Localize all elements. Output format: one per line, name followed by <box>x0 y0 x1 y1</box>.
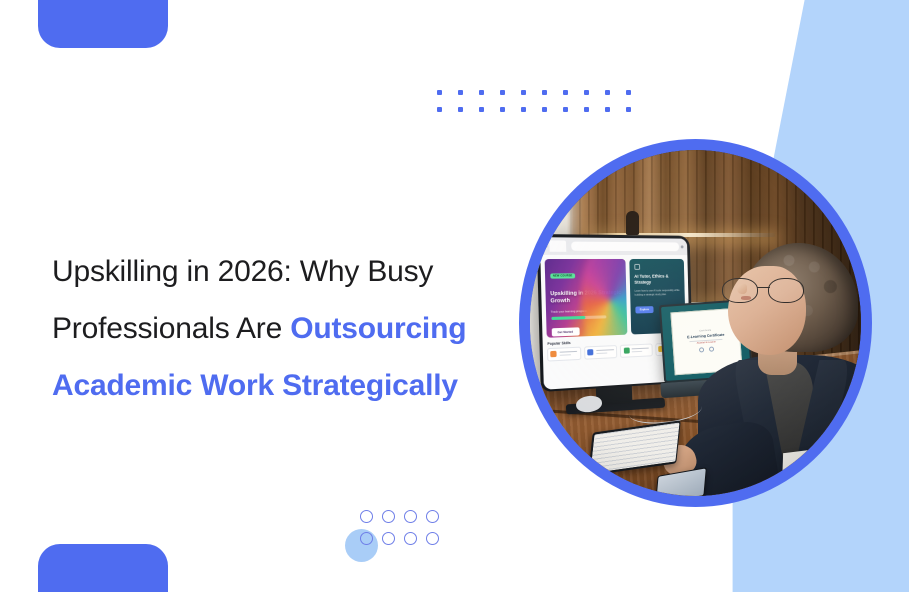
skill-lines <box>632 347 649 352</box>
lens-left <box>722 278 758 303</box>
circle-dot <box>382 532 395 545</box>
lens-right <box>768 278 804 303</box>
dot <box>458 107 463 112</box>
hero-photo-ring: NEW COURSE Upskilling in 2026 Strategic … <box>519 139 872 507</box>
browser-tab <box>549 240 566 251</box>
headline-line-3: Academic Work Strategically <box>52 357 522 414</box>
eyeglasses <box>722 278 804 303</box>
dot <box>542 90 547 95</box>
skill-card <box>546 346 581 361</box>
circle-dot <box>382 510 395 523</box>
get-started-button: Get Started <box>551 327 579 336</box>
browser-dot <box>681 245 684 248</box>
new-course-badge: NEW COURSE <box>550 273 576 278</box>
shelf-object <box>626 211 639 235</box>
skill-icon <box>624 347 630 353</box>
accent-pill-top <box>38 0 168 48</box>
skill-icon <box>550 351 556 357</box>
dot <box>479 90 484 95</box>
dot <box>458 90 463 95</box>
square-dot-grid-decoration <box>437 90 647 124</box>
office-scene: NEW COURSE Upskilling in 2026 Strategic … <box>530 150 861 496</box>
dot <box>521 90 526 95</box>
skill-lines <box>559 351 577 356</box>
dot <box>500 107 505 112</box>
dot <box>479 107 484 112</box>
circle-dot <box>404 510 417 523</box>
dot <box>626 90 631 95</box>
progress-bar-fill <box>551 316 586 320</box>
blog-hero-banner: Upskilling in 2026: Why Busy Professiona… <box>0 0 909 592</box>
circle-dot <box>426 532 439 545</box>
headline: Upskilling in 2026: Why Busy Professiona… <box>52 243 522 414</box>
circle-dot <box>426 510 439 523</box>
accent-pill-bottom <box>38 544 168 592</box>
dot <box>584 90 589 95</box>
dot <box>542 107 547 112</box>
skill-card <box>584 344 618 359</box>
dot <box>605 90 610 95</box>
hero-photo: NEW COURSE Upskilling in 2026 Strategic … <box>530 150 861 496</box>
circle-dot <box>360 510 373 523</box>
dot <box>605 107 610 112</box>
browser-url-bar <box>571 241 679 251</box>
dot <box>563 90 568 95</box>
dot <box>437 107 442 112</box>
circle-dot <box>360 532 373 545</box>
ai-card-title: AI Tutor, Ethics & Strategy <box>634 273 680 285</box>
ai-card-body: Learn how to use AI tools responsibly wh… <box>635 289 681 298</box>
dot <box>500 90 505 95</box>
card-icon <box>634 264 640 270</box>
dot <box>563 107 568 112</box>
course-hero-card: NEW COURSE Upskilling in 2026 Strategic … <box>544 259 627 337</box>
dot <box>521 107 526 112</box>
skill-card <box>620 343 652 357</box>
dot <box>437 90 442 95</box>
skill-lines <box>596 349 614 354</box>
explore-button: Explore <box>635 306 654 313</box>
paper-lines <box>792 453 860 487</box>
dot <box>584 107 589 112</box>
headline-line-1: Upskilling in 2026: Why Busy <box>52 243 522 300</box>
headline-line-2-accent: Outsourcing <box>290 312 466 345</box>
circle-dot-grid-decoration <box>360 510 448 554</box>
headline-line-2-plain: Professionals Are <box>52 312 290 345</box>
circle-dot <box>404 532 417 545</box>
dot <box>626 107 631 112</box>
browser-dot <box>544 244 547 247</box>
skill-icon <box>587 349 593 355</box>
browser-chrome <box>539 236 687 255</box>
headline-line-2: Professionals Are Outsourcing <box>52 300 522 357</box>
gradient-swirl-graphic <box>580 259 627 337</box>
